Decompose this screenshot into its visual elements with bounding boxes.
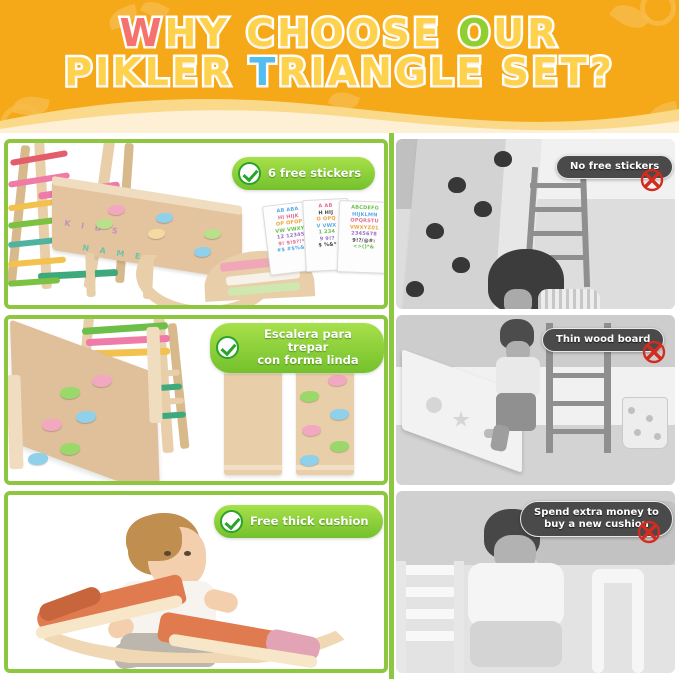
- sticker-sheet-3: ABCDEFG HIJKLMN OPQRSTU VWXYZ01 2345678 …: [337, 200, 388, 274]
- badge-label: Escalera para trepar con forma linda: [246, 328, 370, 368]
- title-text-pikler: PIKLER: [64, 50, 249, 94]
- badge-label: 6 free stickers: [268, 167, 361, 180]
- title-line-2: PIKLER TRIANGLE SET?: [0, 53, 679, 92]
- x-mark-icon: [639, 167, 665, 193]
- title-letter-w: W: [120, 11, 165, 55]
- header-banner: WHY CHOOSE OUR PIKLER TRIANGLE SET?: [0, 0, 679, 133]
- column-divider: [389, 133, 394, 679]
- comparison-grid: K I D S N A M E AB ABA HI HIJK: [0, 133, 679, 679]
- bad-panel-row-2: Thin wood board: [396, 315, 675, 485]
- x-mark-icon: [636, 519, 662, 545]
- x-mark-icon: [641, 339, 667, 365]
- badge-label: Thin wood board: [556, 334, 650, 346]
- badge-free-thick-cushion[interactable]: Free thick cushion: [214, 505, 383, 538]
- check-circle-icon: [220, 510, 243, 533]
- bad-panel-row-1: No free stickers: [396, 139, 675, 309]
- good-panel-row-2: Escalera para trepar con forma linda: [4, 315, 388, 485]
- badge-label: Free thick cushion: [250, 515, 369, 528]
- good-panel-row-3: Free thick cushion: [4, 491, 388, 673]
- wave-divider: [0, 91, 679, 133]
- title-text-hy: HY: [165, 11, 247, 55]
- board-slide-side: [224, 365, 282, 475]
- check-circle-icon: [238, 162, 261, 185]
- title-letter-o: O: [458, 11, 493, 55]
- bad-panel-row-3: Spend extra money to buy a new cushion: [396, 491, 675, 673]
- check-circle-icon: [216, 336, 239, 359]
- title-text-choose: CHOOSE: [246, 11, 458, 55]
- title-text-ur: UR: [493, 11, 559, 55]
- page-title: WHY CHOOSE OUR PIKLER TRIANGLE SET?: [0, 14, 679, 92]
- board-climb-side: [296, 365, 354, 475]
- title-letter-t: T: [249, 50, 278, 94]
- title-line-1: WHY CHOOSE OUR: [0, 14, 679, 53]
- title-text-riangle-set: RIANGLE SET?: [278, 50, 615, 94]
- badge-6-free-stickers[interactable]: 6 free stickers: [232, 157, 375, 190]
- good-panel-row-1: K I D S N A M E AB ABA HI HIJK: [4, 139, 388, 309]
- badge-escalera-trepar[interactable]: Escalera para trepar con forma linda: [210, 323, 384, 373]
